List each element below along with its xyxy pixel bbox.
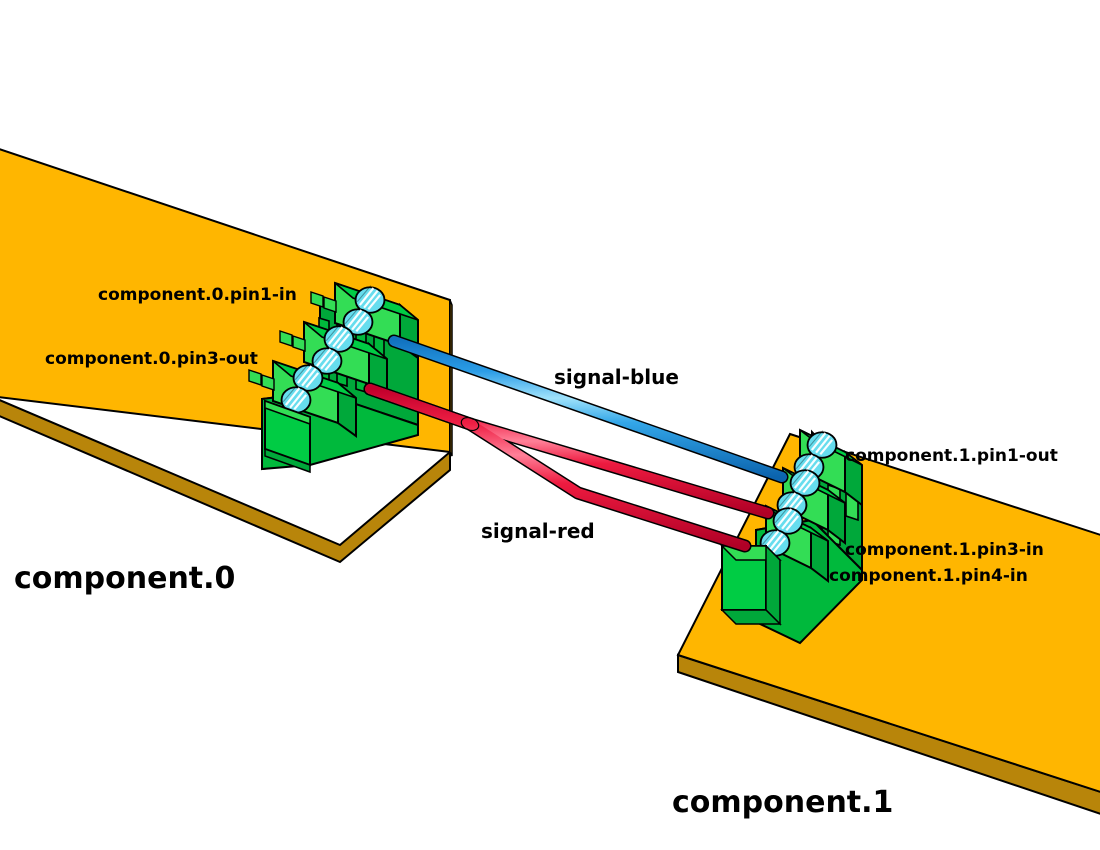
board-label-component-0: component.0 <box>14 561 235 596</box>
pin-label-c1-pin1-out: component.1.pin1-out <box>845 446 1058 466</box>
diagram-canvas: component.0.pin1-in component.0.pin3-out… <box>0 0 1100 850</box>
c1-end-block <box>722 546 780 624</box>
pin-label-c0-pin1-in: component.0.pin1-in <box>98 285 297 305</box>
pin-label-c1-pin3-in: component.1.pin3-in <box>845 540 1044 560</box>
board-label-component-1: component.1 <box>672 785 893 820</box>
pin-label-c1-pin4-in: component.1.pin4-in <box>829 566 1028 586</box>
signal-label-red: signal-red <box>481 519 595 543</box>
signal-label-blue: signal-blue <box>554 365 679 389</box>
wiring-diagram-scene: component.0.pin1-in component.0.pin3-out… <box>0 0 1100 850</box>
pin-label-c0-pin3-out: component.0.pin3-out <box>45 349 258 369</box>
board-component-1[interactable] <box>678 434 1100 817</box>
board-0-right-edge <box>450 300 452 456</box>
